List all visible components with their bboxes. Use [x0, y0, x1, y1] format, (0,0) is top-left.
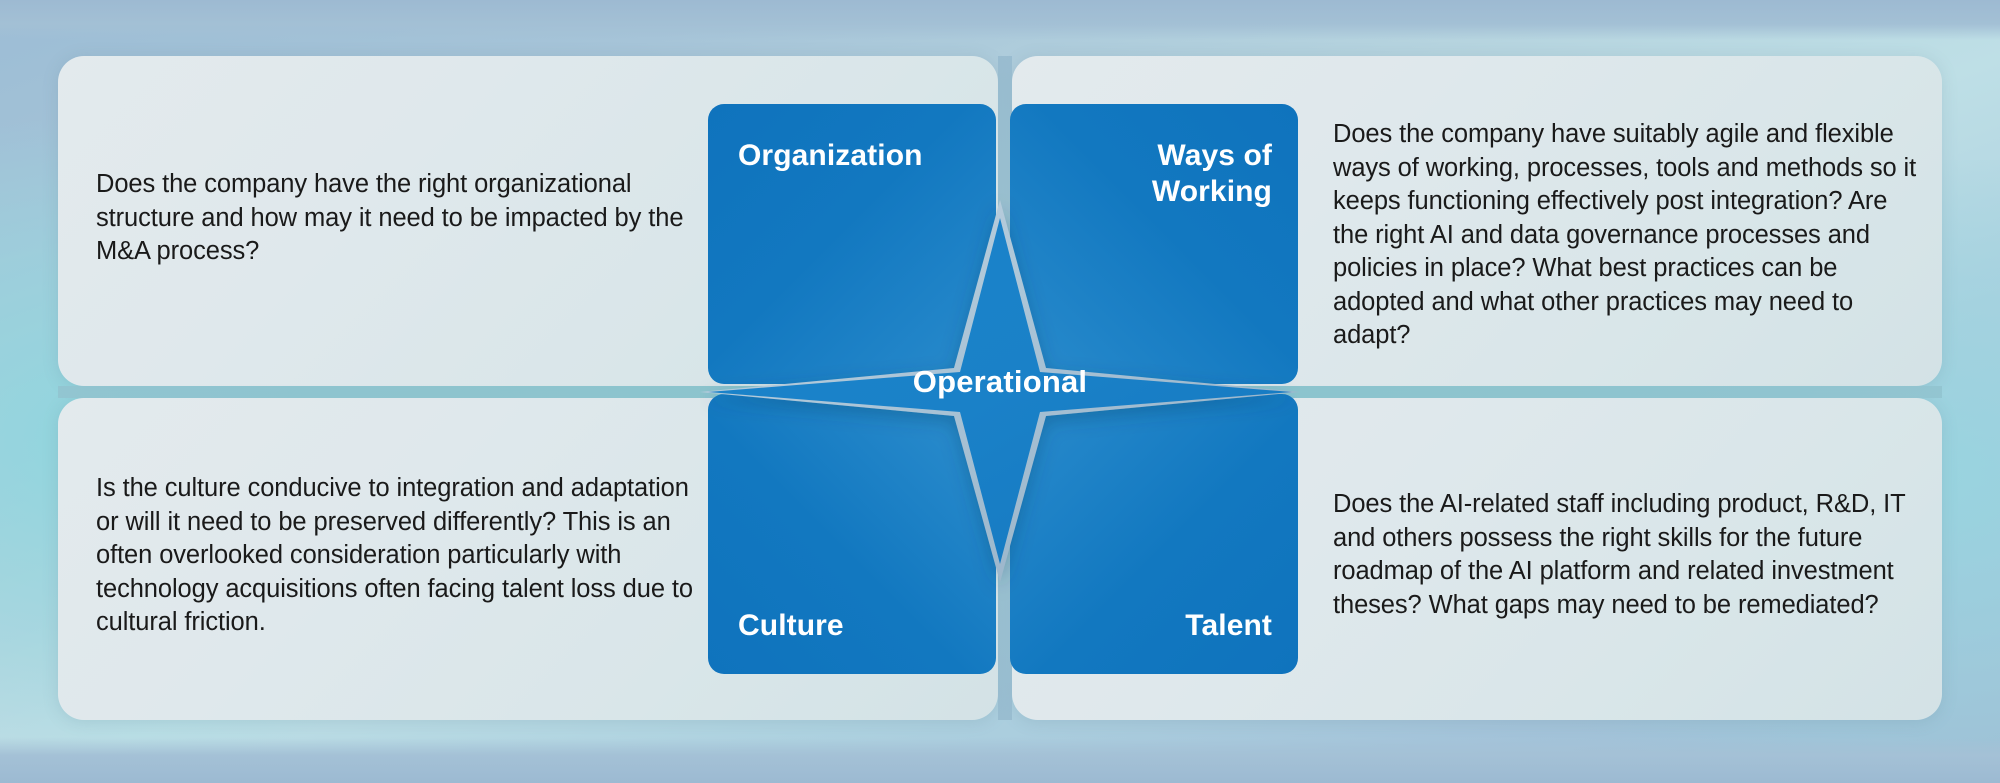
background-band-top — [0, 0, 2000, 40]
background-band-bottom — [0, 737, 2000, 783]
description-organization: Does the company have the right organiza… — [96, 168, 696, 269]
tile-organization[interactable]: Organization — [708, 104, 996, 384]
description-talent: Does the AI-related staff including prod… — [1333, 488, 1923, 622]
diagram-canvas: Does the company have the right organiza… — [0, 0, 2000, 783]
tile-label-ways-of-working: Ways of Working — [1152, 138, 1272, 210]
tile-talent[interactable]: Talent — [1010, 394, 1298, 674]
center-label: Operational — [700, 364, 1300, 400]
center-cluster: Organization Ways of Working Culture Tal… — [700, 96, 1300, 684]
description-culture: Is the culture conducive to integration … — [96, 472, 696, 640]
tile-label-culture: Culture — [738, 608, 844, 644]
tile-label-talent: Talent — [1185, 608, 1272, 644]
description-ways-of-working: Does the company have suitably agile and… — [1333, 118, 1923, 353]
tile-culture[interactable]: Culture — [708, 394, 996, 674]
tile-ways-of-working[interactable]: Ways of Working — [1010, 104, 1298, 384]
tile-label-organization: Organization — [738, 138, 923, 174]
